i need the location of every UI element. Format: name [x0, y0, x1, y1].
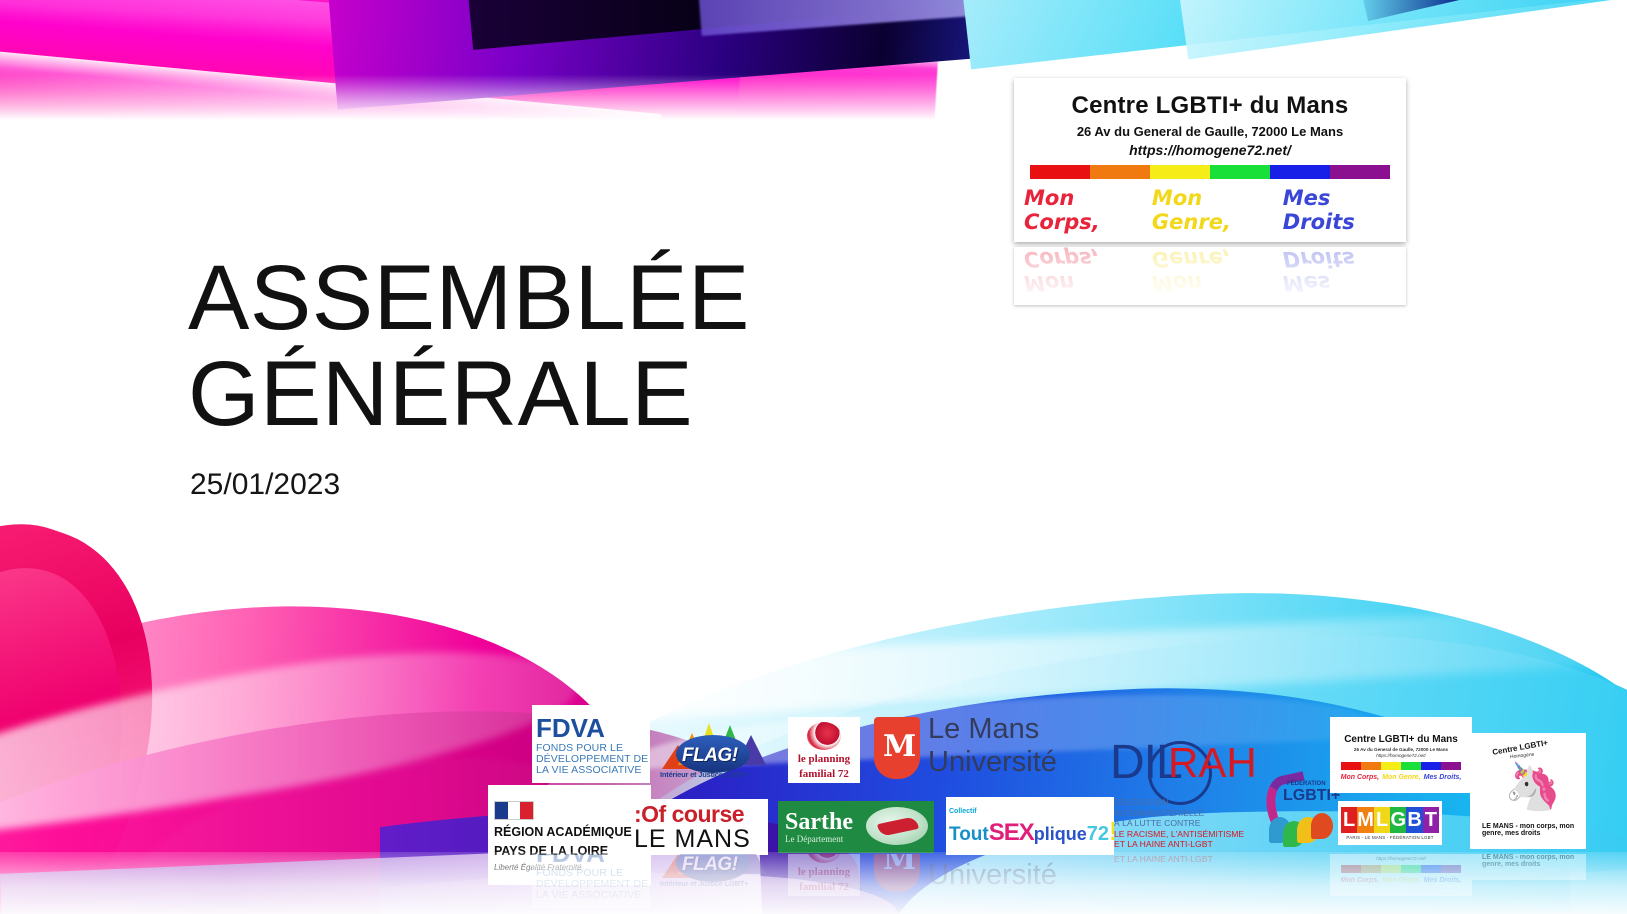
slogan-word-1: Mon Genre, [1152, 186, 1274, 234]
unicorn-icon: 🦄 [1504, 763, 1561, 809]
logo-flag: FLAG! Intérieur et Justice LGBT+ [658, 721, 770, 783]
logo-planning-familial: le planning familial 72 [788, 717, 860, 783]
flag-stripe-1 [1090, 165, 1150, 179]
banner-slogan: Mon Corps,Mon Genre,Mes Droits [1024, 186, 1396, 234]
flag-stripe-5 [1441, 762, 1461, 770]
dilcrah-rah: RAH [1168, 739, 1257, 787]
cb-title: Centre LGBTI+ du Mans [1335, 734, 1467, 745]
flag-stripe-0 [1030, 165, 1090, 179]
flag-name: FLAG! [682, 745, 738, 767]
title-line-1: ASSEMBLÉE [188, 250, 888, 346]
cb-url: https://homogene72.net/ [1335, 753, 1467, 758]
flag-stripe-1 [1361, 762, 1381, 770]
dilcrah-sub-l2: INTERMINISTÉRIELLE [1114, 808, 1244, 819]
banner-url: https://homogene72.net/ [1024, 142, 1396, 158]
dilcrah-sub-l1: DÉLÉGATION [1114, 797, 1244, 808]
banner-card: Centre LGBTI+ du Mans 26 Av du General d… [1014, 78, 1406, 242]
fdva-name: FDVA [536, 715, 650, 741]
homogene-banner: Centre LGBTI+ du Mans 26 Av du General d… [1014, 78, 1406, 305]
lmlgbt-subtitle: PARIS - LE MANS - FÉDÉRATION LGBT [1341, 835, 1439, 840]
ofcourse-line1: :Of course [634, 802, 768, 826]
lmlgbt-letter-g-3: G [1390, 807, 1406, 833]
logo-tout-sexplique-72: Collectif Tout SEX plique 72 ! [946, 797, 1114, 855]
flag-stripe-5 [1330, 165, 1390, 179]
lmlgbt-letter-l-2: L [1374, 807, 1390, 833]
slogan-word-1: Mon Genre, [1382, 774, 1421, 781]
banner-reflection: Mon Corps,Mon Genre,Mes Droits [1014, 247, 1406, 305]
flag-stripe-4 [1270, 165, 1330, 179]
sarthe-emblem-icon [866, 807, 928, 845]
logo-lmlgbt: LMLGBT PARIS - LE MANS - FÉDÉRATION LGBT [1338, 801, 1442, 845]
tsx-tout: Tout [949, 825, 989, 844]
slogan-word-0: Mon Corps, [1024, 186, 1143, 234]
lmu-line1: Le Mans [928, 715, 1039, 746]
page-title: ASSEMBLÉE GÉNÉRALE [188, 250, 888, 442]
planning-line1: le planning [798, 753, 850, 765]
dilcrah-subtitle: DÉLÉGATION INTERMINISTÉRIELLE À LA LUTTE… [1114, 797, 1244, 850]
banner-title: Centre LGBTI+ du Mans [1024, 92, 1396, 120]
cb-slogan: Mon Corps,Mon Genre,Mes Droits, [1335, 774, 1467, 781]
fdva-subtitle: FONDS POUR LE DÉVELOPPEMENT DE LA VIE AS… [536, 743, 650, 776]
tsx-sex: SEX [989, 819, 1034, 847]
crest-letter: M [883, 727, 911, 767]
federation-petals-icon [1269, 813, 1339, 847]
flag-stripe-2 [1381, 762, 1401, 770]
lmlgbt-letter-b-4: B [1406, 807, 1422, 833]
dilcrah-sub-l4: LE RACISME, L'ANTISÉMITISME [1114, 829, 1244, 840]
logo-strip-reflection-fade [0, 852, 1627, 914]
cb-rainbow-bar [1341, 762, 1461, 770]
logo-of-course-le-mans: :Of course LE MANS [632, 799, 768, 855]
unicorn-line2: Homogène [1510, 752, 1535, 761]
logo-sarthe: Sarthe Le Département [778, 801, 934, 853]
slide-date: 25/01/2023 [190, 468, 340, 502]
lmlgbt-letter-t-5: T [1423, 807, 1439, 833]
slogan-word-2: Mes Droits [1283, 186, 1396, 234]
slogan-word-0: Mon Corps, [1341, 774, 1380, 781]
logo-fdva: FDVA FONDS POUR LE DÉVELOPPEMENT DE LA V… [532, 705, 650, 783]
region-line1: RÉGION ACADÉMIQUE [494, 825, 651, 839]
flag-stripe-4 [1421, 762, 1441, 770]
tsx-number: 72 [1087, 823, 1109, 846]
tsx-collectif: Collectif [949, 808, 1114, 816]
logo-le-mans-universite: M Le Mans Université [874, 715, 1109, 785]
planning-swirl-icon [807, 722, 841, 750]
planning-line2: familial 72 [799, 768, 849, 780]
flag-tagline: Intérieur et Justice LGBT+ [660, 770, 748, 779]
rainbow-flag-bar [1030, 165, 1390, 179]
cb-address: 26 Av du General de Gaulle, 72000 Le Man… [1335, 747, 1467, 752]
tsx-plique: plique [1034, 824, 1087, 845]
dilcrah-sub-l5: ET LA HAINE ANTI-LGBT [1114, 839, 1244, 850]
banner-address: 26 Av du General de Gaulle, 72000 Le Man… [1024, 124, 1396, 139]
dilcrah-sub-l3: À LA LUTTE CONTRE [1114, 818, 1244, 829]
lmlgbt-letter-m-1: M [1357, 807, 1374, 833]
flag-stripe-3 [1401, 762, 1421, 770]
slogan-word-2: Mes Droits, [1424, 774, 1462, 781]
flag-stripe-3 [1210, 165, 1270, 179]
title-line-2: GÉNÉRALE [188, 346, 888, 442]
lmu-line2: Université [928, 746, 1057, 779]
lmlgbt-letter-l-0: L [1341, 807, 1357, 833]
presentation-slide: ASSEMBLÉE GÉNÉRALE 25/01/2023 Centre LGB… [0, 0, 1627, 914]
flag-stripe-0 [1341, 762, 1361, 770]
reflection-mask [1014, 247, 1406, 305]
lmlgbt-letters: LMLGBT [1341, 807, 1439, 833]
french-flag-icon [494, 801, 534, 820]
logo-unicorn-homogene: Centre LGBTI+ Homogène 🦄 LE MANS - mon c… [1470, 733, 1586, 849]
lemans-crest-icon: M [874, 717, 920, 779]
flag-stripe-2 [1150, 165, 1210, 179]
ofcourse-line2: LE MANS [634, 826, 768, 852]
logo-centre-lgbti-banner: Centre LGBTI+ du Mans 26 Av du General d… [1330, 717, 1472, 793]
unicorn-arc-text: LE MANS - mon corps, mon genre, mes droi… [1482, 823, 1586, 837]
